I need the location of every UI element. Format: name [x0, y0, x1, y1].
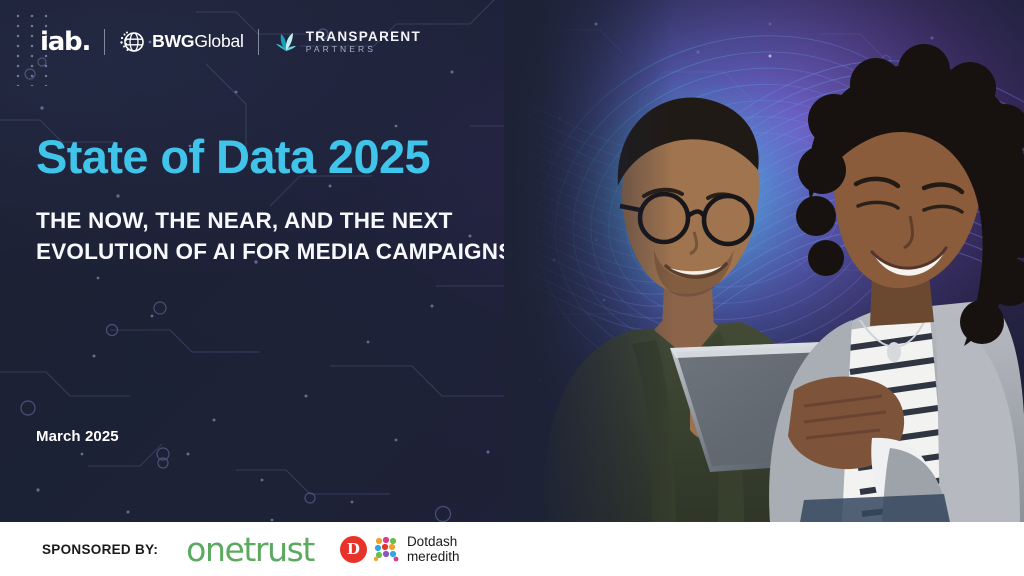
logo-divider-2: [258, 29, 259, 55]
page-subtitle: THE NOW, THE NEAR, AND THE NEXT EVOLUTIO…: [36, 205, 556, 267]
tp-line-2: PARTNERS: [306, 45, 421, 54]
onetrust-logo[interactable]: onetrust: [186, 533, 314, 566]
dotdash-d-mark-icon: D: [340, 536, 367, 563]
logo-divider-1: [104, 29, 105, 55]
bwg-global-wordmark: BWGGlobal: [152, 33, 244, 51]
bwg-light-text: Global: [194, 31, 243, 51]
butterfly-leaf-icon: [273, 29, 299, 55]
partner-logo-bar: iab. BWGGlobal: [40, 24, 421, 60]
dotdash-meredith-wordmark: Dotdash meredith: [407, 534, 460, 564]
sponsor-footer: SPONSORED BY: onetrust D Dotdash meredit…: [0, 522, 1024, 576]
ddm-line-1: Dotdash: [407, 534, 460, 549]
dotdash-meredith-logo[interactable]: D Dotdash meredith: [340, 534, 460, 564]
bwg-global-logo[interactable]: BWGGlobal: [119, 29, 244, 55]
publication-date: March 2025: [36, 428, 119, 445]
cover-photo: [504, 0, 1024, 522]
globe-icon: [119, 29, 145, 55]
slide-root: iab. BWGGlobal: [0, 0, 1024, 576]
page-title: State of Data 2025: [36, 132, 430, 182]
hero-section: iab. BWGGlobal: [0, 0, 1024, 522]
subtitle-line-2: EVOLUTION OF AI FOR MEDIA CAMPAIGNS: [36, 236, 556, 267]
tp-line-1: TRANSPARENT: [306, 30, 421, 44]
person-right: [769, 44, 1024, 522]
bwg-bold-text: BWG: [152, 31, 194, 51]
iab-logo[interactable]: iab.: [40, 29, 90, 55]
transparent-partners-logo[interactable]: TRANSPARENT PARTNERS: [273, 29, 421, 55]
people-photo-subjects: [504, 0, 1024, 522]
sponsored-by-label: SPONSORED BY:: [42, 542, 158, 557]
ddm-line-2: meredith: [407, 549, 460, 564]
subtitle-line-1: THE NOW, THE NEAR, AND THE NEXT: [36, 205, 556, 236]
transparent-partners-wordmark: TRANSPARENT PARTNERS: [306, 30, 421, 53]
dotdash-dot-grid-icon: [374, 536, 400, 562]
